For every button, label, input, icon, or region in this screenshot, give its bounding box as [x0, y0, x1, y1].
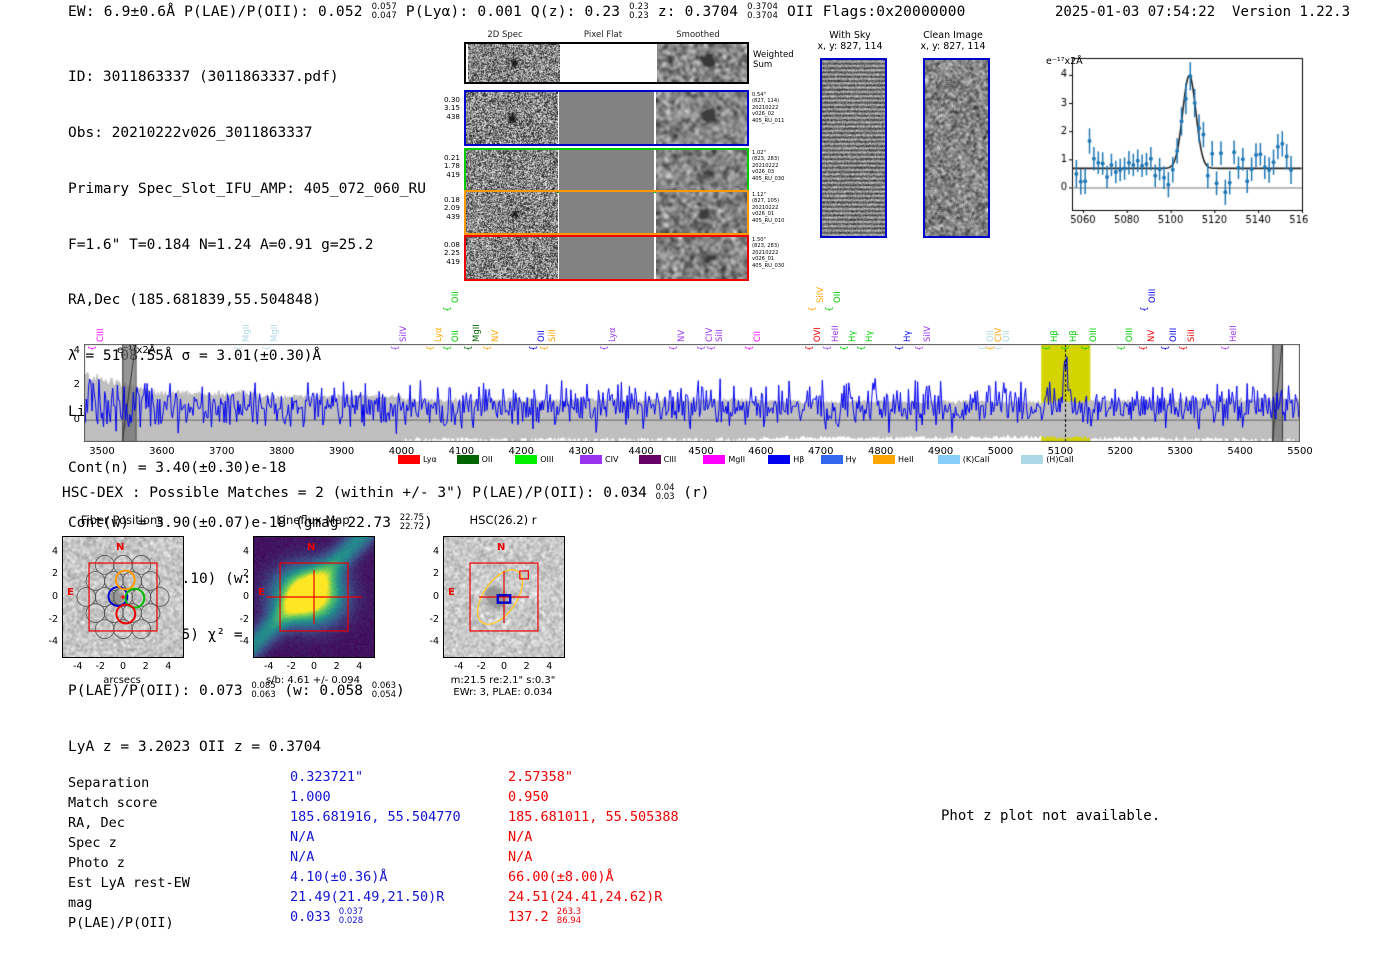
- legend-item: (K)CaII: [938, 454, 990, 465]
- match-value-red: 137.2 263.386.94: [508, 907, 581, 927]
- line-id-label: CII: [753, 331, 763, 342]
- legend-label: Hγ: [846, 455, 857, 464]
- spec2d-image: [466, 192, 558, 233]
- cutout-panel: With Skyx, y: 827, 114Clean Imagex, y: 8…: [805, 30, 1025, 260]
- match-value-blue: 1.000: [290, 787, 331, 807]
- panel-ytick: -2: [40, 614, 58, 625]
- line-id-bracket: {: [1179, 345, 1189, 351]
- flux-units-annotation: e⁻¹⁷x2Å: [1046, 56, 1083, 67]
- spectrum-xtick: 5400: [1216, 446, 1264, 457]
- spectrum-xtick: 5300: [1156, 446, 1204, 457]
- line-id-label: NV: [491, 330, 501, 342]
- line-id-bracket: {: [234, 345, 244, 351]
- spec2d-stat: 419: [422, 171, 460, 179]
- match-value-red: 185.681011, 55.505388: [508, 807, 679, 827]
- line-id-bracket: {: [669, 345, 679, 351]
- plae-lower: 0.047: [372, 12, 397, 21]
- pixel-flat-image: [559, 192, 654, 233]
- compass-east: E: [448, 587, 455, 598]
- spec2d-row-info: 1.12" (827, 105) 20210222 v026_01 405_RU…: [752, 192, 810, 224]
- weighted-sum-label: WeightedSum: [753, 50, 794, 70]
- spec2d-row-info: 0.54" (827, 114) 20210222 v026_02 405_RU…: [752, 92, 810, 124]
- line-id-bracket: {: [464, 345, 474, 351]
- legend-swatch: [938, 455, 960, 464]
- legend-swatch: [873, 455, 895, 464]
- legend-label: HeII: [898, 455, 914, 464]
- line-id-label: OIII: [1125, 328, 1135, 342]
- spec2d-row-info: 1.50" (823, 283) 20210222 v026_01 405_RU…: [752, 237, 810, 269]
- qz-errors: 0.230.23: [629, 3, 649, 21]
- legend-swatch: [580, 455, 602, 464]
- match-row-label: P(LAE)/P(OII): [68, 913, 174, 933]
- line-id-bracket: {: [1221, 345, 1231, 351]
- panel-ytick: 0: [421, 591, 439, 602]
- pixel-flat-image: [559, 150, 654, 191]
- legend-label: Hβ: [793, 455, 804, 464]
- legend-label: OII: [482, 455, 493, 464]
- match-value-blue: 4.10(±0.36)Å: [290, 867, 388, 887]
- panel-subcaption: m:21.5 re:2.1" s:0.3"EWr: 3, PLAE: 0.034: [398, 675, 608, 699]
- cutout-image: [923, 58, 990, 238]
- compass-north: N: [307, 542, 315, 553]
- panel-ytick: -2: [421, 614, 439, 625]
- match-value-red: 2.57358": [508, 767, 573, 787]
- line-id-bracket: {: [1042, 345, 1052, 351]
- panel-overlay: [254, 537, 374, 657]
- match-row-label: mag: [68, 893, 92, 913]
- panel-ytick: 0: [40, 591, 58, 602]
- summary-suffix: OII Flags:0x20000000: [778, 4, 966, 20]
- line-id-bracket: {: [857, 345, 867, 351]
- line-id-bracket: {: [915, 345, 925, 351]
- smoothed-image: [656, 192, 747, 233]
- line-id-label: MgII: [472, 324, 482, 342]
- line-id-label: NV: [677, 330, 687, 342]
- panel-xtick: 4: [154, 661, 182, 672]
- spectrum-xtick: 5500: [1276, 446, 1324, 457]
- match-value-red: N/A: [508, 847, 532, 867]
- legend-item: OII: [457, 454, 493, 465]
- line-id-bracket: {: [426, 345, 436, 351]
- line-id-bracket: {: [825, 306, 835, 312]
- match-row-label: RA, Dec: [68, 813, 125, 833]
- panel-xlabel: arcsecs: [22, 675, 222, 687]
- legend-item: Lyα: [398, 454, 437, 465]
- line-id-label: OII: [1002, 330, 1012, 342]
- spec2d-image: [466, 150, 558, 191]
- spec2d-row-stats: 0.082.25419: [422, 241, 460, 266]
- line-id-label: Hγ: [903, 331, 913, 342]
- spec2d-stat: 419: [422, 258, 460, 266]
- pixel-flat-image: [559, 237, 654, 279]
- legend-swatch: [398, 455, 420, 464]
- legend-item: CIV: [580, 454, 618, 465]
- spec2d-row-stats: 0.182.09439: [422, 196, 460, 221]
- smoothed-image: [656, 92, 747, 144]
- line-id-label: OII: [833, 291, 843, 303]
- timestamp: 2025-01-03 07:54:22: [1055, 4, 1215, 20]
- spec2d-row: [464, 190, 749, 235]
- line-id-label: OII: [451, 291, 461, 303]
- line-id-bracket: {: [391, 345, 401, 351]
- spec2d-row: [464, 148, 749, 193]
- panel-subcaption: s/b: 4.61 +/- 0.094: [208, 675, 418, 687]
- detection-summary-line: EW: 6.9±0.6Å P(LAE)/P(OII): 0.052 0.0570…: [68, 3, 966, 21]
- compass-east: E: [67, 587, 74, 598]
- line-id-bracket: {: [540, 345, 550, 351]
- line-id-label: Hγ: [848, 331, 858, 342]
- legend-label: MgII: [728, 455, 745, 464]
- spectrum-ytick: 2: [60, 379, 80, 390]
- panel-ytick: 4: [40, 546, 58, 557]
- line-id-label: HeII: [1229, 325, 1239, 342]
- hscdex-plae-errors: 0.040.03: [656, 484, 675, 502]
- line-id-label: OVI: [813, 327, 823, 342]
- line-id-bracket: {: [1081, 345, 1091, 351]
- legend-label: (H)CaII: [1046, 455, 1073, 464]
- panel-xtick: 4: [535, 661, 563, 672]
- line-id-label: NV: [1147, 330, 1157, 342]
- legend-swatch: [821, 455, 843, 464]
- legend-swatch: [703, 455, 725, 464]
- line-id-label: SiII: [548, 329, 558, 342]
- match-row-label: Match score: [68, 793, 157, 813]
- line-id-label: CIV: [705, 328, 715, 342]
- panel-ytick: -2: [231, 614, 249, 625]
- line-id-bracket: {: [823, 345, 833, 351]
- line-id-label: Hβ: [1050, 330, 1060, 342]
- legend-item: (H)CaII: [1021, 454, 1073, 465]
- line-id-bracket: {: [805, 345, 815, 351]
- line-id-bracket: {: [808, 306, 818, 312]
- line-id-label: MgII: [242, 324, 252, 342]
- legend-item: CIII: [639, 454, 677, 465]
- line-id-bracket: {: [1061, 345, 1071, 351]
- legend-item: MgII: [703, 454, 745, 465]
- line-id-label: OIII: [1169, 328, 1179, 342]
- legend-swatch: [457, 455, 479, 464]
- panel-ytick: 4: [421, 546, 439, 557]
- panel-ytick: 0: [231, 591, 249, 602]
- legend-swatch: [639, 455, 661, 464]
- cutout-name: Clean Image: [923, 30, 983, 41]
- panel-image: [443, 536, 565, 658]
- spectrum-flux-units: e⁻¹⁷x2Å: [117, 345, 156, 356]
- col-header-smoothed: Smoothed: [658, 30, 738, 40]
- line-id-label: SiIV: [923, 326, 933, 342]
- line-id-bracket: {: [529, 345, 539, 351]
- line-id-bracket: {: [994, 345, 1004, 351]
- spec2d-stat: 438: [422, 113, 460, 121]
- smoothed-image: [656, 237, 747, 279]
- spec2d-stat: 439: [422, 213, 460, 221]
- spec2d-row: [464, 235, 749, 281]
- line-id-bracket: {: [1161, 345, 1171, 351]
- compass-east: E: [258, 587, 265, 598]
- line-id-bracket: {: [262, 345, 272, 351]
- spectrum-ytick: 4: [60, 345, 80, 356]
- line-id-bracket: {: [600, 345, 610, 351]
- panel-title: Fiber Positions: [22, 513, 222, 527]
- meta-params: F=1.6" T=0.184 N=1.24 A=0.91 g=25.2: [68, 236, 433, 255]
- match-value-red: 66.00(±8.00)Å: [508, 867, 614, 887]
- meta-obs: Obs: 20210222v026_3011863337: [68, 124, 433, 143]
- panel-ytick: -4: [40, 636, 58, 647]
- line-id-label: SiIV: [399, 326, 409, 342]
- panel-ytick: 2: [421, 568, 439, 579]
- match-value-blue: 21.49(21.49,21.50)R: [290, 887, 444, 907]
- spectrum-legend: LyαOIIOIIICIVCIIIMgIIHβHγHeII(K)CaII(H)C…: [398, 454, 1018, 467]
- legend-swatch: [1021, 455, 1043, 464]
- panel-image: [253, 536, 375, 658]
- legend-label: Lyα: [423, 455, 437, 464]
- full-spectrum-plot: e⁻¹⁷x2Å: [84, 344, 1300, 442]
- line-id-label: OII: [451, 330, 461, 342]
- panel-ytick: 4: [231, 546, 249, 557]
- panel-overlay: [63, 537, 183, 657]
- cutout-coords: x, y: 827, 114: [920, 41, 985, 52]
- match-value-blue: 0.323721": [290, 767, 363, 787]
- match-value-blue: N/A: [290, 827, 314, 847]
- panel-sub-line: s/b: 4.61 +/- 0.094: [266, 675, 360, 686]
- spectrum-xtick: 3700: [198, 446, 246, 457]
- match-value-blue: 0.033 0.0370.028: [290, 907, 363, 927]
- match-value-red: 24.51(24.41,24.62)R: [508, 887, 662, 907]
- legend-item: HeII: [873, 454, 914, 465]
- match-value-blue: N/A: [290, 847, 314, 867]
- meta-slot: Primary Spec_Slot_IFU_AMP: 405_072_060_R…: [68, 180, 433, 199]
- match-value-blue: 185.681916, 55.504770: [290, 807, 461, 827]
- line-id-bracket: {: [1139, 345, 1149, 351]
- summary-z: z: 0.3704: [649, 4, 747, 20]
- line-id-label: Hβ: [1069, 330, 1079, 342]
- match-row-label: Spec z: [68, 833, 117, 853]
- legend-label: (K)CaII: [963, 455, 990, 464]
- line-id-bracket: {: [1140, 306, 1150, 312]
- timestamp-version: 2025-01-03 07:54:22 Version 1.22.3: [1055, 4, 1350, 20]
- pixel-flat-image: [559, 92, 654, 144]
- panel-ytick: 2: [40, 568, 58, 579]
- line-id-bracket: {: [840, 345, 850, 351]
- meta-id: ID: 3011863337 (3011863337.pdf): [68, 68, 433, 87]
- legend-label: OIII: [540, 455, 553, 464]
- red-plae-errors: 263.386.94: [557, 908, 581, 926]
- spec2d-row-info: 1.02" (823, 283) 20210222 v026_03 405_RU…: [752, 150, 810, 182]
- z-errors: 0.37040.3704: [747, 3, 778, 21]
- line-id-label: CIII: [96, 329, 106, 342]
- smoothed-image: [656, 150, 747, 191]
- line-id-label: OIII: [1148, 289, 1158, 303]
- match-value-red: 0.950: [508, 787, 549, 807]
- spec2d-row-stats: 0.211.78419: [422, 154, 460, 179]
- cutout-coords: x, y: 827, 114: [817, 41, 882, 52]
- spec2d-image: [466, 237, 558, 279]
- match-row-label: Separation: [68, 773, 149, 793]
- line-id-label: SiII: [1187, 329, 1197, 342]
- line-id-label: OII: [537, 330, 547, 342]
- spectrum-ytick: 0: [60, 414, 80, 425]
- summary-prefix: EW: 6.9±0.6Å P(LAE)/P(OII): 0.052: [68, 4, 372, 20]
- line-id-label: Hγ: [865, 331, 875, 342]
- cutout-title: Clean Imagex, y: 827, 114: [898, 30, 1008, 52]
- line-id-label: MgII: [270, 324, 280, 342]
- line-id-bracket: {: [483, 345, 493, 351]
- col-header-pixelflat: Pixel Flat: [563, 30, 643, 40]
- legend-item: Hγ: [821, 454, 857, 465]
- legend-swatch: [768, 455, 790, 464]
- meta-radec: RA,Dec (185.681839,55.504848): [68, 291, 433, 310]
- spectrum-xtick: 5200: [1096, 446, 1144, 457]
- panel-ytick: -4: [231, 636, 249, 647]
- legend-label: CIV: [605, 455, 618, 464]
- spectrum-xtick: 3800: [258, 446, 306, 457]
- spec2d-row: [464, 90, 749, 146]
- line-id-bracket: {: [443, 345, 453, 351]
- col-header-2dspec: 2D Spec: [465, 30, 545, 40]
- line-id-bracket: {: [697, 345, 707, 351]
- line-id-label: Lyα: [608, 327, 618, 342]
- panel-sub-line: EWr: 3, PLAE: 0.034: [453, 687, 552, 698]
- line-id-label: SiIV: [816, 287, 826, 303]
- cutout-image: [820, 58, 887, 238]
- compass-north: N: [116, 542, 124, 553]
- summary-mid: P(Lyα): 0.001 Q(z): 0.23: [397, 4, 629, 20]
- match-value-red: N/A: [508, 827, 532, 847]
- version-label: Version 1.22.3: [1232, 4, 1350, 20]
- legend-label: CIII: [664, 455, 677, 464]
- line-id-bracket: {: [745, 345, 755, 351]
- line-id-label: SiII: [715, 329, 725, 342]
- legend-item: Hβ: [768, 454, 804, 465]
- plae-poii-errors: 0.0570.047: [372, 3, 397, 21]
- match-row-label: Photo z: [68, 853, 125, 873]
- weighted-sum-row: [464, 42, 749, 84]
- spectrum-xtick: 3600: [138, 446, 186, 457]
- photz-message: Phot z plot not available.: [941, 808, 1160, 824]
- cutout-name: With Sky: [829, 30, 870, 41]
- spec2d-row-stats: 0.303.15438: [422, 96, 460, 121]
- emission-line-zoom-plot: e⁻¹⁷x2Å: [1036, 52, 1308, 230]
- spec2d-image: [466, 92, 558, 144]
- line-id-bracket: {: [707, 345, 717, 351]
- match-row-label: Est LyA rest-EW: [68, 873, 190, 893]
- panel-xtick: 4: [345, 661, 373, 672]
- compass-north: N: [497, 542, 505, 553]
- line-id-label: OIII: [1089, 328, 1099, 342]
- spectrum-xtick: 3900: [318, 446, 366, 457]
- cutout-title: With Skyx, y: 827, 114: [795, 30, 905, 52]
- meta-cont-n: Cont(n) = 3.40(±0.30)e-18: [68, 459, 433, 478]
- panel-title: Lineflux Map: [213, 513, 413, 527]
- legend-swatch: [515, 455, 537, 464]
- spec2d-panel: 2D Spec Pixel Flat Smoothed WeightedSum …: [420, 30, 810, 260]
- hscdex-match-summary: HSC-DEX : Possible Matches = 2 (within +…: [62, 484, 709, 502]
- panel-overlay: [444, 537, 564, 657]
- panel-title: HSC(26.2) r: [403, 513, 603, 527]
- line-id-bracket: {: [88, 345, 98, 351]
- spectrum-xtick: 3500: [78, 446, 126, 457]
- blue-plae-errors: 0.0370.028: [339, 908, 363, 926]
- panel-ytick: 2: [231, 568, 249, 579]
- panel-sub-line: m:21.5 re:2.1" s:0.3": [451, 675, 556, 686]
- line-id-label: HeII: [831, 325, 841, 342]
- meta-redshifts: LyA z = 3.2023 OII z = 0.3704: [68, 738, 433, 757]
- legend-item: OIII: [515, 454, 553, 465]
- panel-ytick: -4: [421, 636, 439, 647]
- line-id-bracket: {: [1117, 345, 1127, 351]
- line-id-bracket: {: [443, 306, 453, 312]
- line-id-label: Lyα: [434, 327, 444, 342]
- line-id-bracket: {: [895, 345, 905, 351]
- panel-image: [62, 536, 184, 658]
